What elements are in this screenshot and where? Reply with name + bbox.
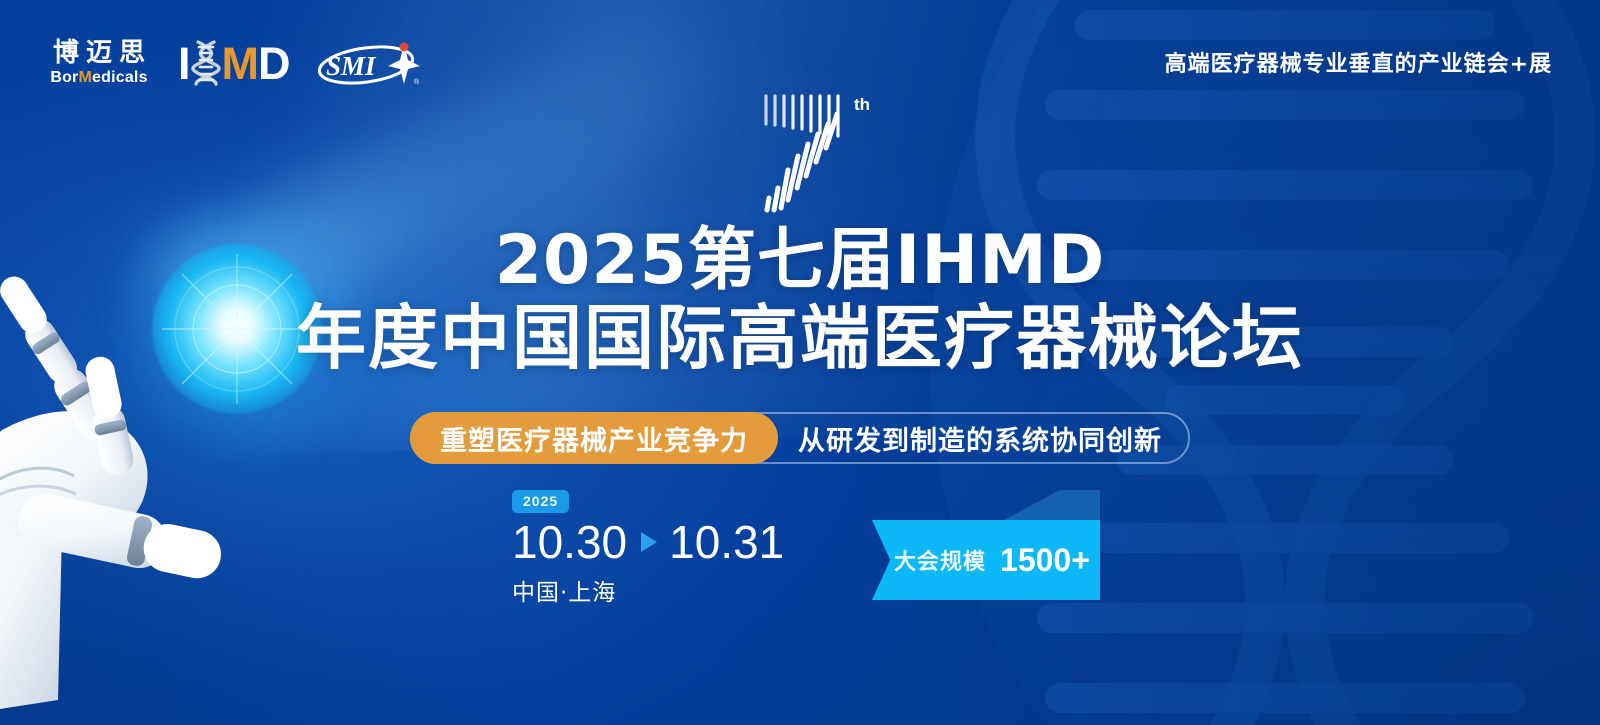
logo-ihmd-letter-d: D [258,41,290,86]
date-arrow-icon [641,532,657,552]
date-range: 10.30 10.31 [512,519,784,565]
subtitle-capsule: 重塑医疗器械产业竞争力 从研发到制造的系统协同创新 [410,412,1190,464]
logo-smi[interactable]: SMI ® [316,38,422,88]
edition-suffix: th [854,95,870,114]
date-end: 10.31 [669,519,784,565]
event-scale-ribbon: 大会规模 1500+ [872,490,1100,600]
scale-label: 大会规模 [894,544,986,576]
sponsor-logo-bar: 博迈思 BorMedicals I [46,38,422,88]
year-badge: 2025 [512,490,569,513]
logo-bormedicals-en-accent: M [78,69,92,86]
poster-stage: 博迈思 BorMedicals I [0,0,1600,725]
logo-ihmd-letter-i: I [178,41,190,86]
logo-bormedicals-en-after: edicals [92,69,148,86]
header-tagline: 高端医疗器械专业垂直的产业链会+展 [1165,46,1552,78]
headline-line-2: 年度中国国际高端医疗器械论坛 [0,299,1600,377]
svg-text:SMI: SMI [326,51,377,81]
logo-bormedicals-en: BorMedicals [50,70,147,86]
subtitle-pill: 重塑医疗器械产业竞争力 [410,412,778,464]
date-start: 10.30 [512,519,627,565]
logo-ihmd-letter-m: M [222,41,259,86]
subtitle-text: 从研发到制造的系统协同创新 [798,419,1162,458]
logo-bormedicals-en-before: Bor [50,69,78,86]
event-date-block: 2025 10.30 10.31 中国·上海 [512,490,784,607]
event-city: 中国·上海 [512,573,784,607]
logo-bormedicals-cn: 博迈思 [46,40,152,66]
logo-ihmd[interactable]: I M D [178,39,290,87]
scale-value: 1500+ [1000,542,1090,579]
ribbon-body: 大会规模 1500+ [872,520,1100,600]
edition-seven-mark: th [742,88,892,218]
headline-line-1: 2025第七届IHMD [0,224,1600,297]
logo-bormedicals[interactable]: 博迈思 BorMedicals [46,40,152,86]
dna-helix-icon [191,40,221,86]
page-title: 2025第七届IHMD 年度中国国际高端医疗器械论坛 [0,224,1600,378]
logo-smi-trademark: ® [414,78,420,86]
